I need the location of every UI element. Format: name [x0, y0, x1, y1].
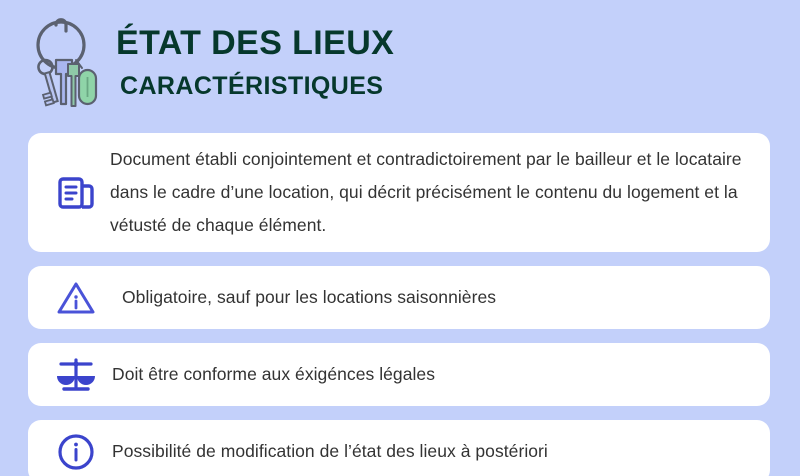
document-icon [48, 172, 104, 214]
list-item-label: Obligatoire, sauf pour les locations sai… [122, 281, 496, 314]
infographic-root: ÉTAT DES LIEUX CARACTÉRISTIQUES Document… [0, 0, 800, 476]
list-item: Doit être conforme aux éxigénces légales [28, 343, 770, 406]
keys-icon [14, 10, 110, 114]
scales-of-justice-icon [48, 355, 104, 395]
list-item: Obligatoire, sauf pour les locations sai… [28, 266, 770, 329]
warning-triangle-info-icon [48, 279, 104, 317]
card-list: Document établi conjointement et contrad… [28, 133, 770, 476]
list-item-label: Doit être conforme aux éxigénces légales [112, 358, 435, 391]
list-item-label: Possibilité de modification de l’état de… [112, 435, 548, 468]
page-title: ÉTAT DES LIEUX [116, 24, 394, 62]
header: ÉTAT DES LIEUX CARACTÉRISTIQUES [0, 0, 800, 124]
list-item-label: Document établi conjointement et contrad… [110, 143, 752, 242]
header-titles: ÉTAT DES LIEUX CARACTÉRISTIQUES [116, 24, 394, 99]
list-item: Document établi conjointement et contrad… [28, 133, 770, 252]
list-item: Possibilité de modification de l’état de… [28, 420, 770, 476]
page-subtitle: CARACTÉRISTIQUES [120, 72, 394, 100]
info-circle-icon [48, 432, 104, 472]
